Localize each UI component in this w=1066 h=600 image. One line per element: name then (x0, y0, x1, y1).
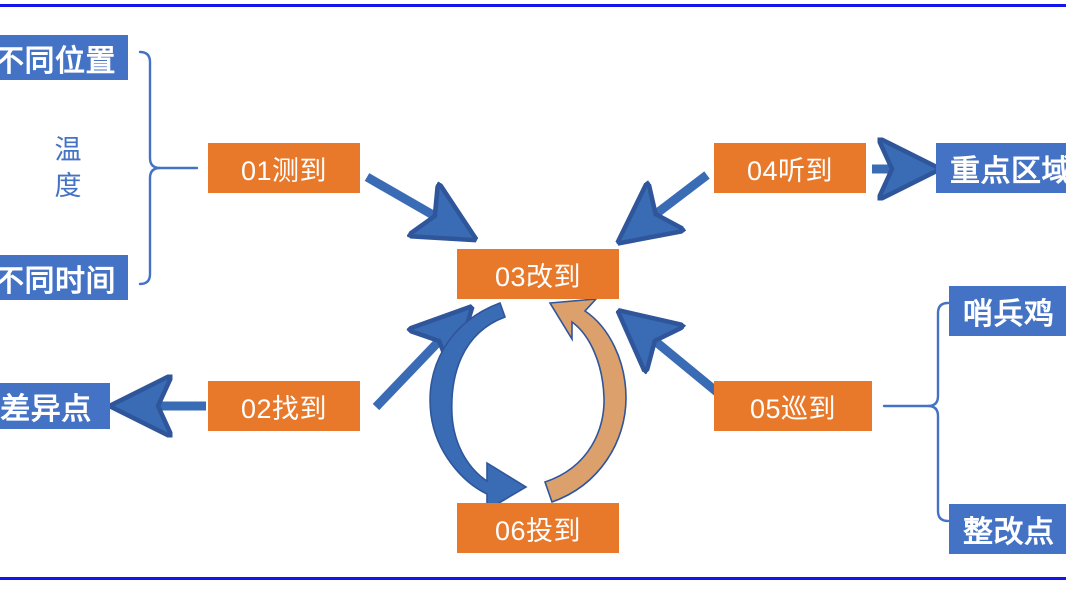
slide-top-border (0, 4, 1066, 7)
cycle-arrow-orange (545, 299, 626, 502)
step-label-01: 01测到 (241, 149, 327, 188)
step-label-02: 02找到 (241, 387, 327, 426)
arrow-step05-step03 (627, 318, 723, 397)
right-brace (884, 303, 948, 521)
slide-bottom-border (0, 577, 1066, 580)
label-box-different-position[interactable]: 不同位置 (0, 35, 128, 80)
label-difference-point: 差异点 (0, 384, 92, 428)
label-key-area: 重点区域 (950, 146, 1066, 190)
step-box-06[interactable]: 06投到 (457, 503, 619, 553)
label-box-key-area[interactable]: 重点区域 (936, 143, 1066, 193)
label-different-time: 不同时间 (0, 256, 116, 300)
step-box-03[interactable]: 03改到 (457, 249, 619, 299)
label-rectification-point: 整改点 (963, 507, 1055, 551)
label-temperature: 温 度 (48, 132, 88, 204)
left-brace (140, 52, 197, 284)
step-box-02[interactable]: 02找到 (208, 381, 360, 431)
arrow-step01-step03 (367, 177, 466, 234)
step-label-06: 06投到 (495, 509, 581, 548)
label-different-position: 不同位置 (0, 36, 116, 80)
step-box-04[interactable]: 04听到 (714, 143, 866, 193)
label-box-rectification-point[interactable]: 整改点 (949, 504, 1066, 554)
cycle-arrow-blue (430, 303, 526, 510)
slide-canvas: 不同位置 不同时间 差异点 重点区域 哨兵鸡 整改点 温 度 01测到 02找到… (0, 0, 1066, 600)
step-label-05: 05巡到 (750, 387, 836, 426)
step-label-04: 04听到 (747, 149, 833, 188)
step-box-01[interactable]: 01测到 (208, 143, 360, 193)
label-box-difference-point[interactable]: 差异点 (0, 383, 110, 429)
label-box-different-time[interactable]: 不同时间 (0, 255, 128, 300)
arrow-step02-step03 (376, 315, 464, 407)
step-box-05[interactable]: 05巡到 (714, 381, 872, 431)
step-label-03: 03改到 (495, 255, 581, 294)
label-sentinel-chicken: 哨兵鸡 (963, 289, 1055, 333)
arrow-step04-step03 (627, 175, 707, 236)
label-box-sentinel-chicken[interactable]: 哨兵鸡 (949, 286, 1066, 336)
